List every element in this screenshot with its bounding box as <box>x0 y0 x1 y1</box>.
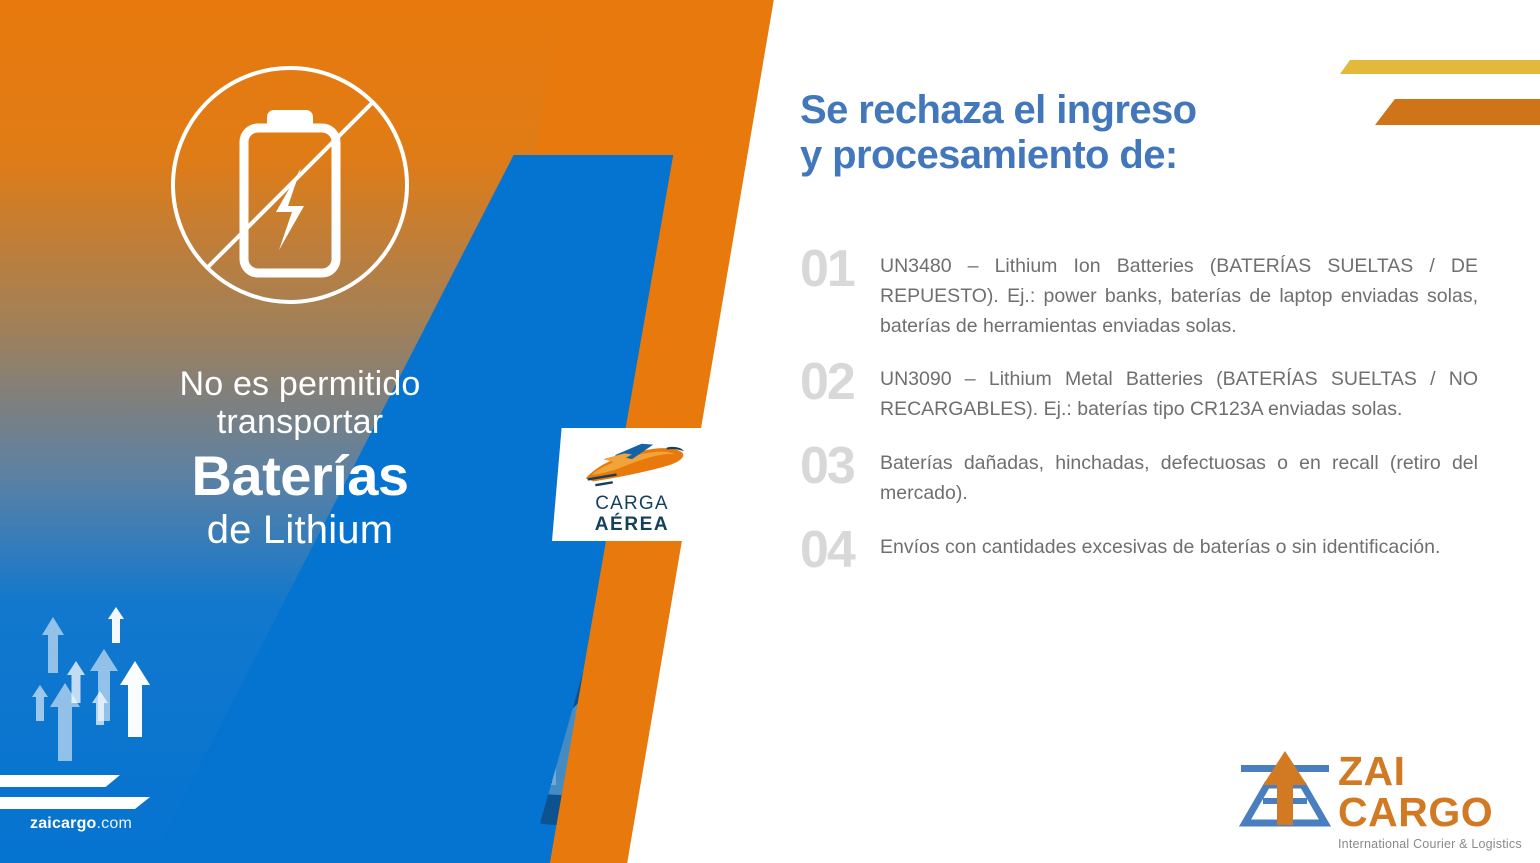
page-title: Se rechaza el ingreso y procesamiento de… <box>800 88 1360 178</box>
list-item-text: UN3090 – Lithium Metal Batteries (BATERÍ… <box>880 365 1478 425</box>
zai-cargo-arrow-mark <box>1235 745 1335 835</box>
list-item-number: 01 <box>800 246 880 294</box>
url-bar-top <box>0 775 120 787</box>
list-item-number: 02 <box>800 359 880 407</box>
url-decoration-bars <box>0 775 180 815</box>
list-item-text: Envíos con cantidades excesivas de bater… <box>880 533 1478 563</box>
url-bar-bottom <box>0 797 150 809</box>
list-item: 02 UN3090 – Lithium Metal Batteries (BAT… <box>800 365 1478 425</box>
website-url-tld: .com <box>97 815 132 832</box>
left-visual-panel: No es permitido transportar Baterías de … <box>0 0 900 863</box>
page-title-line1: Se rechaza el ingreso <box>800 88 1360 133</box>
website-url-name: zaicargo <box>30 815 97 832</box>
left-headline-line1: No es permitido <box>60 365 540 403</box>
infographic-canvas: No es permitido transportar Baterías de … <box>0 0 1540 863</box>
right-content-panel: Se rechaza el ingreso y procesamiento de… <box>795 0 1540 863</box>
list-item-number: 04 <box>800 527 880 575</box>
orange-angled-bar <box>1375 99 1540 125</box>
list-item-number: 03 <box>800 443 880 491</box>
airplane-icon <box>574 436 690 495</box>
carga-aerea-badge: CARGA AÉREA <box>552 428 712 541</box>
left-headline-line2: transportar <box>60 403 540 441</box>
left-headline-line4: de Lithium <box>60 508 540 553</box>
no-battery-icon <box>165 60 415 310</box>
upward-arrows-decoration <box>20 575 170 765</box>
left-headline-block: No es permitido transportar Baterías de … <box>60 365 540 553</box>
left-headline-emphasis: Baterías <box>60 445 540 508</box>
list-item: 03 Baterías dañadas, hinchadas, defectuo… <box>800 449 1478 509</box>
list-item: 04 Envíos con cantidades excesivas de ba… <box>800 533 1478 575</box>
zai-cargo-logo: ZAI CARGO International Courier & Logist… <box>1235 745 1540 835</box>
list-item-text: UN3480 – Lithium Ion Batteries (BATERÍAS… <box>880 252 1478 341</box>
carga-badge-word-bottom: AÉREA <box>595 514 670 536</box>
zai-cargo-tagline: International Courier & Logistics <box>1338 837 1540 851</box>
zai-cargo-name: ZAI CARGO <box>1338 751 1540 833</box>
zai-cargo-wordmark: ZAI CARGO International Courier & Logist… <box>1338 751 1540 851</box>
website-url[interactable]: zaicargo.com <box>30 815 132 833</box>
gold-angled-bar <box>1340 60 1540 74</box>
list-item-text: Baterías dañadas, hinchadas, defectuosas… <box>880 449 1478 509</box>
list-item: 01 UN3480 – Lithium Ion Batteries (BATER… <box>800 252 1478 341</box>
carga-badge-word-top: CARGA <box>595 493 669 515</box>
rejected-items-list: 01 UN3480 – Lithium Ion Batteries (BATER… <box>800 252 1478 575</box>
page-title-line2: y procesamiento de: <box>800 133 1360 178</box>
